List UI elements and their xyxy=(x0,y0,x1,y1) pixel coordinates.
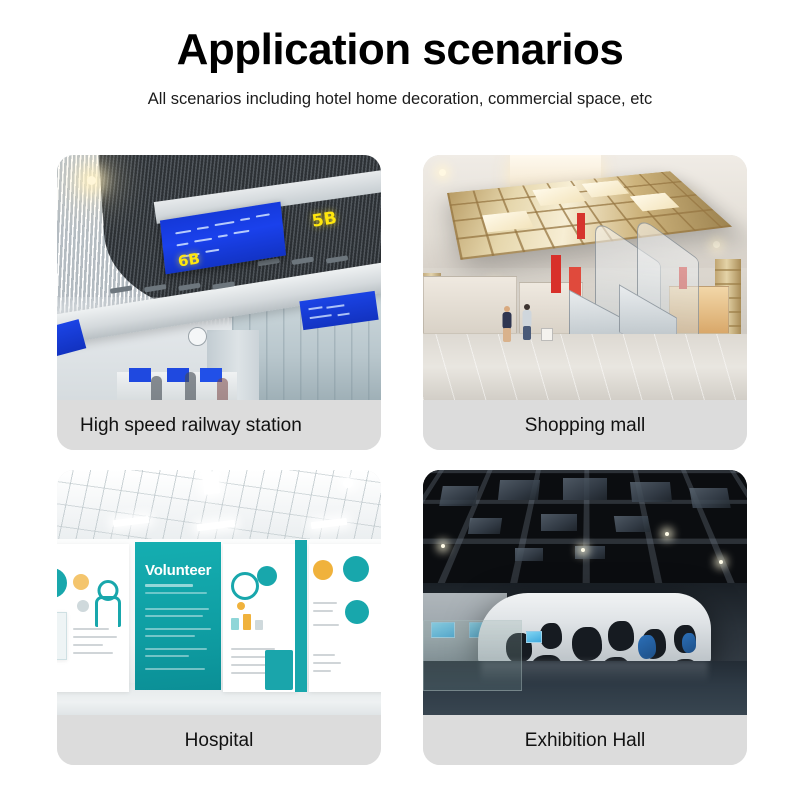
exhibition-hall-photo xyxy=(423,470,747,715)
ceiling-panel-8 xyxy=(614,516,650,532)
ceiling-panel-3 xyxy=(563,478,607,500)
gate-sign-left xyxy=(129,368,151,382)
mall-downlight-1 xyxy=(439,169,446,176)
gate-number-6b: 6B xyxy=(177,249,201,270)
service-kiosk-icon xyxy=(265,650,293,690)
ceiling-panel-4 xyxy=(630,482,672,502)
card-label-hospital: Hospital xyxy=(57,715,381,765)
ceiling-panel-1 xyxy=(439,486,479,506)
ceiling-panel-10 xyxy=(575,546,605,559)
scenario-card-railway-station[interactable]: 5B 6B High speed railway station xyxy=(57,155,381,450)
glass-partition xyxy=(423,620,522,691)
ceiling-spotlight-1 xyxy=(441,544,445,548)
application-scenarios-page: Application scenarios All scenarios incl… xyxy=(0,0,800,800)
railway-station-photo: 5B 6B xyxy=(57,155,381,400)
card-label-railway-station: High speed railway station xyxy=(57,400,381,450)
ceiling-panel-7 xyxy=(541,514,577,531)
card-label-shopping-mall: Shopping mall xyxy=(423,400,747,450)
hospital-ceiling-grid xyxy=(57,470,381,546)
card-label-exhibition-hall: Exhibition Hall xyxy=(423,715,747,765)
ceiling-spotlight-2 xyxy=(581,548,585,552)
mall-floor xyxy=(423,334,747,400)
ceiling-light-1 xyxy=(202,471,221,495)
scenario-card-exhibition-hall[interactable]: Exhibition Hall xyxy=(423,470,747,765)
ceiling-lamp-icon xyxy=(87,176,96,185)
page-title: Application scenarios xyxy=(0,26,800,74)
scenario-card-hospital[interactable]: Volunteer xyxy=(57,470,381,765)
page-header: Application scenarios All scenarios incl… xyxy=(0,26,800,109)
ceiling-panel-5 xyxy=(689,488,731,508)
mall-downlight-4 xyxy=(713,241,720,248)
traveler-figure-2 xyxy=(185,372,196,400)
shopping-mall-photo xyxy=(423,155,747,400)
station-clock-icon xyxy=(188,327,207,346)
info-panel-right xyxy=(309,544,381,692)
mall-banner-3 xyxy=(577,213,585,239)
scenario-card-shopping-mall[interactable]: Shopping mall xyxy=(423,155,747,450)
ceiling-panel-9 xyxy=(515,548,543,561)
hospital-photo: Volunteer xyxy=(57,470,381,715)
volunteer-teal-panel: Volunteer xyxy=(135,542,221,690)
teal-divider-strip xyxy=(295,540,307,692)
ceiling-spotlight-3 xyxy=(665,532,669,536)
shopping-bag-icon xyxy=(541,328,553,341)
ceiling-spotlight-4 xyxy=(719,560,723,564)
volunteer-heading: Volunteer xyxy=(145,562,211,579)
ceiling-panel-2 xyxy=(498,480,540,500)
gate-number-5b: 5B xyxy=(311,208,339,232)
volunteer-person-icon xyxy=(93,580,123,632)
page-subtitle: All scenarios including hotel home decor… xyxy=(0,90,800,110)
scenario-card-grid: 5B 6B High speed railway station xyxy=(57,155,747,765)
mall-banner-1 xyxy=(551,255,561,293)
ceiling-panel-6 xyxy=(468,518,502,534)
traveler-figure-1 xyxy=(151,376,162,400)
traveler-figure-3 xyxy=(217,378,228,400)
